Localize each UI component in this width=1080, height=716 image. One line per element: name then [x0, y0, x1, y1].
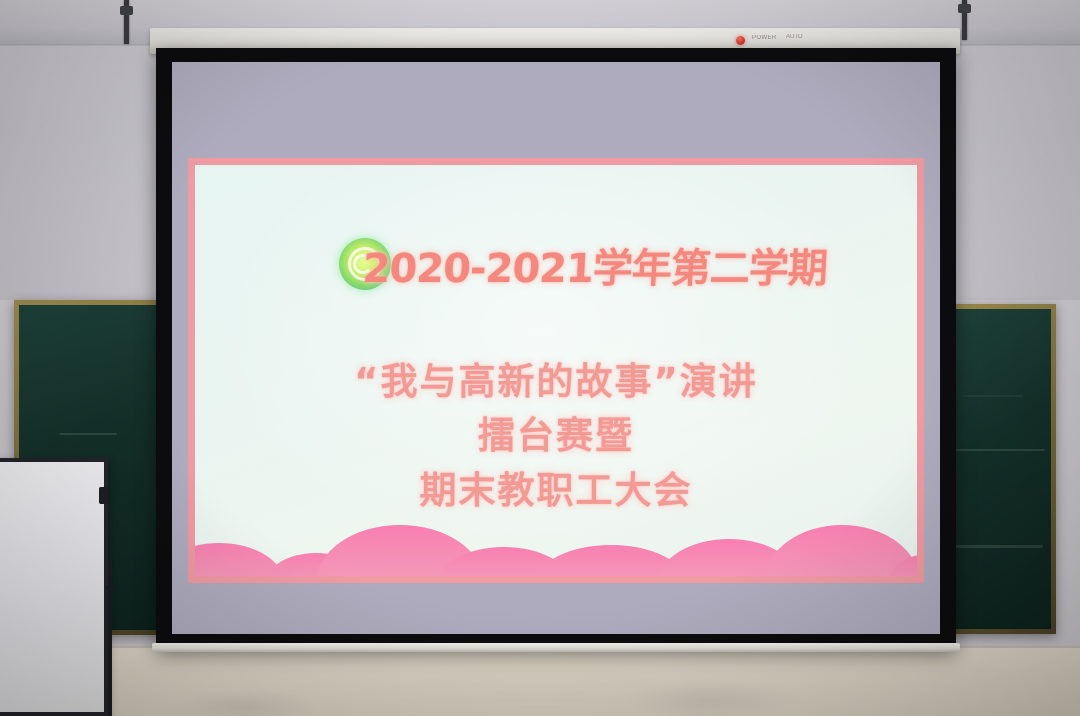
- screen-weight-bar: [152, 643, 960, 652]
- projection-screen: 2020-2021学年第二学期 “我与高新的故事”演讲 擂台赛暨 期末教职工大会: [156, 48, 956, 648]
- chalk-mark: [955, 545, 1043, 548]
- whiteboard-stand-leg: [108, 560, 112, 716]
- screen-mount-bracket-left-head: [120, 6, 133, 15]
- presentation-slide: 2020-2021学年第二学期 “我与高新的故事”演讲 擂台赛暨 期末教职工大会: [188, 158, 924, 583]
- projected-image-area: 2020-2021学年第二学期 “我与高新的故事”演讲 擂台赛暨 期末教职工大会: [172, 62, 940, 634]
- chalk-mark: [953, 449, 1045, 451]
- slide-headline-line-2: 擂台赛暨: [188, 405, 924, 459]
- classroom-photo-scene: POWER AUTO 2020-2021学年第二学期 “我与高新的故事”演讲 擂…: [0, 0, 1080, 716]
- slide-year-title: 2020-2021学年第二学期: [188, 236, 924, 294]
- wall-dado-panel: [0, 648, 1080, 716]
- mobile-whiteboard[interactable]: [0, 458, 108, 716]
- slide-headline-line-1: “我与高新的故事”演讲: [188, 351, 924, 405]
- screen-mount-bracket-right-head: [958, 4, 971, 13]
- chalk-mark: [963, 395, 1023, 397]
- power-indicator-icon: [736, 36, 745, 45]
- housing-label-power: POWER: [752, 35, 777, 41]
- housing-label-auto: AUTO: [786, 34, 803, 40]
- slide-bottom-decoration: [188, 473, 924, 583]
- chalk-mark: [59, 433, 117, 435]
- whiteboard-stand-arm: [106, 586, 116, 589]
- whiteboard-clip: [99, 487, 108, 504]
- right-blackboard: [944, 304, 1056, 634]
